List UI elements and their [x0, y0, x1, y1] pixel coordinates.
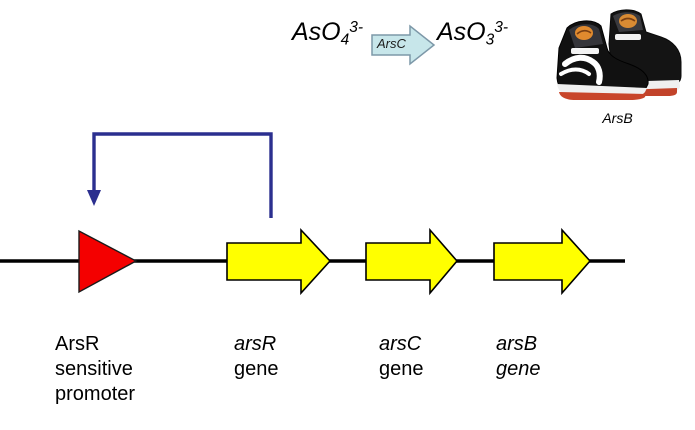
- promoter-caption-line-3: promoter: [55, 382, 135, 407]
- arsenate-subscript: 4: [341, 32, 350, 49]
- promoter-triangle: [79, 231, 136, 292]
- promoter-caption: ArsR sensitive promoter: [55, 332, 135, 407]
- arsc-enzyme-label: ArsC: [377, 36, 406, 51]
- diagram-canvas: AsO43- ArsC AsO33-: [0, 0, 695, 430]
- arsr-gene-caption: arsR gene: [234, 332, 279, 382]
- arsb-pump-photo: [549, 4, 686, 103]
- arsb-gene-name: arsB: [496, 332, 541, 357]
- arsr-gene-name: arsR: [234, 332, 279, 357]
- arsenite-charge: 3-: [494, 19, 508, 36]
- arsenate-base: AsO: [292, 18, 341, 46]
- arsc-gene-name: arsC: [379, 332, 424, 357]
- regulation-arrowhead: [87, 190, 101, 206]
- sneaker-illustration: [549, 4, 686, 103]
- front-shoe-tag: [571, 48, 599, 54]
- arsr-regulation-arrow: [87, 134, 271, 218]
- arsb-gene-arrow: [494, 230, 590, 293]
- arsenite-formula: AsO33-: [437, 20, 508, 48]
- rear-shoe-tag: [615, 34, 641, 40]
- arsenate-charge: 3-: [349, 19, 363, 36]
- ars-operon-map: [0, 118, 695, 308]
- arsb-gene-caption: arsB gene: [496, 332, 541, 382]
- arsc-gene-arrow: [366, 230, 457, 293]
- arsb-gene-word: gene: [496, 357, 541, 382]
- regulation-arrow-path: [94, 134, 271, 218]
- operon-svg: [0, 118, 695, 308]
- arsenite-base: AsO: [437, 18, 486, 46]
- arsc-gene-word: gene: [379, 357, 424, 382]
- arsc-gene-caption: arsC gene: [379, 332, 424, 382]
- arsr-gene-arrow: [227, 230, 330, 293]
- arsr-gene-word: gene: [234, 357, 279, 382]
- promoter-caption-line-1: ArsR: [55, 332, 135, 357]
- promoter-caption-line-2: sensitive: [55, 357, 135, 382]
- arsenate-formula: AsO43-: [292, 20, 363, 48]
- arsenite-subscript: 3: [486, 32, 495, 49]
